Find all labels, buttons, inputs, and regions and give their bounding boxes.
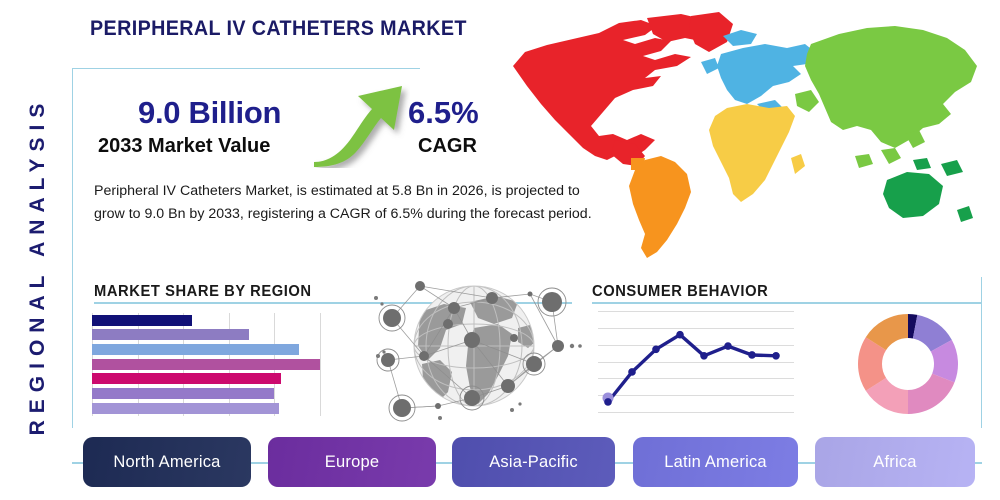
line-marker: [748, 351, 756, 359]
bar-gridline: [320, 313, 321, 416]
region-pill-label: North America: [113, 453, 220, 472]
section-title-market-share: MARKET SHARE BY REGION: [94, 283, 312, 301]
world-map-icon: [495, 8, 995, 263]
region-pill-north-america[interactable]: North America: [83, 437, 251, 487]
line-marker: [628, 368, 636, 376]
region-pill-europe[interactable]: Europe: [268, 437, 436, 487]
line-marker: [700, 352, 708, 360]
region-pill-africa[interactable]: Africa: [815, 437, 975, 487]
segment-donut-chart: [856, 312, 960, 416]
region-pill-asia-pacific[interactable]: Asia-Pacific: [452, 437, 615, 487]
growth-arrow-icon: [310, 82, 410, 168]
line-marker: [772, 352, 780, 360]
bar-chart-bar: [92, 373, 281, 384]
section-title-consumer-behavior: CONSUMER BEHAVIOR: [592, 283, 768, 301]
cagr-figure: 6.5%: [408, 95, 479, 131]
region-pill-label: Africa: [873, 453, 916, 472]
market-value-label: 2033 Market Value: [98, 135, 270, 158]
line-marker: [652, 346, 660, 354]
line-marker: [604, 398, 612, 406]
bar-chart-bar: [92, 329, 249, 340]
line-marker: [676, 331, 684, 339]
bar-chart-bar: [92, 344, 299, 355]
line-marker: [724, 342, 732, 350]
section-rule-consumer-behavior: [592, 302, 982, 304]
bar-chart-bar: [92, 403, 279, 414]
cagr-label: CAGR: [418, 135, 477, 158]
bar-chart-bar: [92, 359, 320, 370]
page-title: PERIPHERAL IV CATHETERS MARKET: [90, 17, 467, 41]
region-pill-latin-america[interactable]: Latin America: [633, 437, 798, 487]
market-share-bar-chart: [92, 313, 322, 416]
line-series-path: [608, 335, 776, 402]
bar-chart-bar: [92, 315, 192, 326]
infographic-canvas: REGIONAL ANALYSIS PERIPHERAL IV CATHETER…: [0, 0, 1000, 500]
consumer-behavior-line-chart: [598, 311, 794, 414]
region-pill-label: Latin America: [664, 453, 767, 472]
global-network-globe-icon: [362, 268, 587, 423]
region-pill-label: Asia-Pacific: [489, 453, 578, 472]
bar-chart-bar: [92, 388, 274, 399]
region-pill-label: Europe: [325, 453, 379, 472]
market-value-figure: 9.0 Billion: [138, 95, 281, 131]
side-label-regional-analysis: REGIONAL ANALYSIS: [18, 66, 58, 466]
